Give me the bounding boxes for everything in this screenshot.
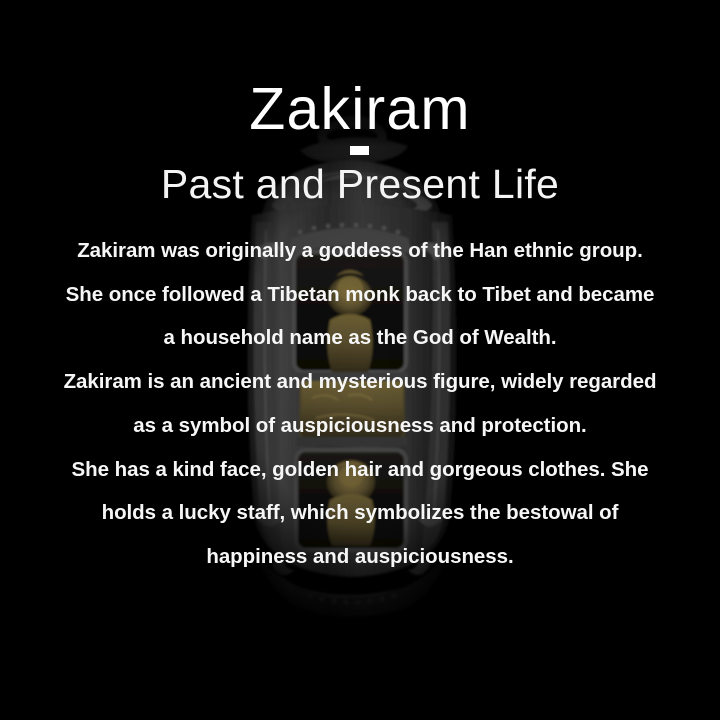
title-dash-mark: [350, 146, 369, 155]
poster-text-content: Zakiram Past and Present Life Zakiram wa…: [0, 0, 720, 720]
poster-canvas: Zakiram Past and Present Life Zakiram wa…: [0, 0, 720, 720]
description-line: holds a lucky staff, which symbolizes th…: [40, 491, 680, 535]
description-line: She has a kind face, golden hair and gor…: [40, 448, 680, 492]
description-line: She once followed a Tibetan monk back to…: [40, 273, 680, 317]
description-block: Zakiram was originally a goddess of the …: [40, 229, 680, 579]
description-line: a household name as the God of Wealth.: [40, 316, 680, 360]
description-line: Zakiram is an ancient and mysterious fig…: [40, 360, 680, 404]
description-line: happiness and auspiciousness.: [40, 535, 680, 579]
description-line: as a symbol of auspiciousness and protec…: [40, 404, 680, 448]
page-subtitle: Past and Present Life: [0, 162, 720, 207]
page-title: Zakiram: [0, 80, 720, 139]
description-line: Zakiram was originally a goddess of the …: [40, 229, 680, 273]
